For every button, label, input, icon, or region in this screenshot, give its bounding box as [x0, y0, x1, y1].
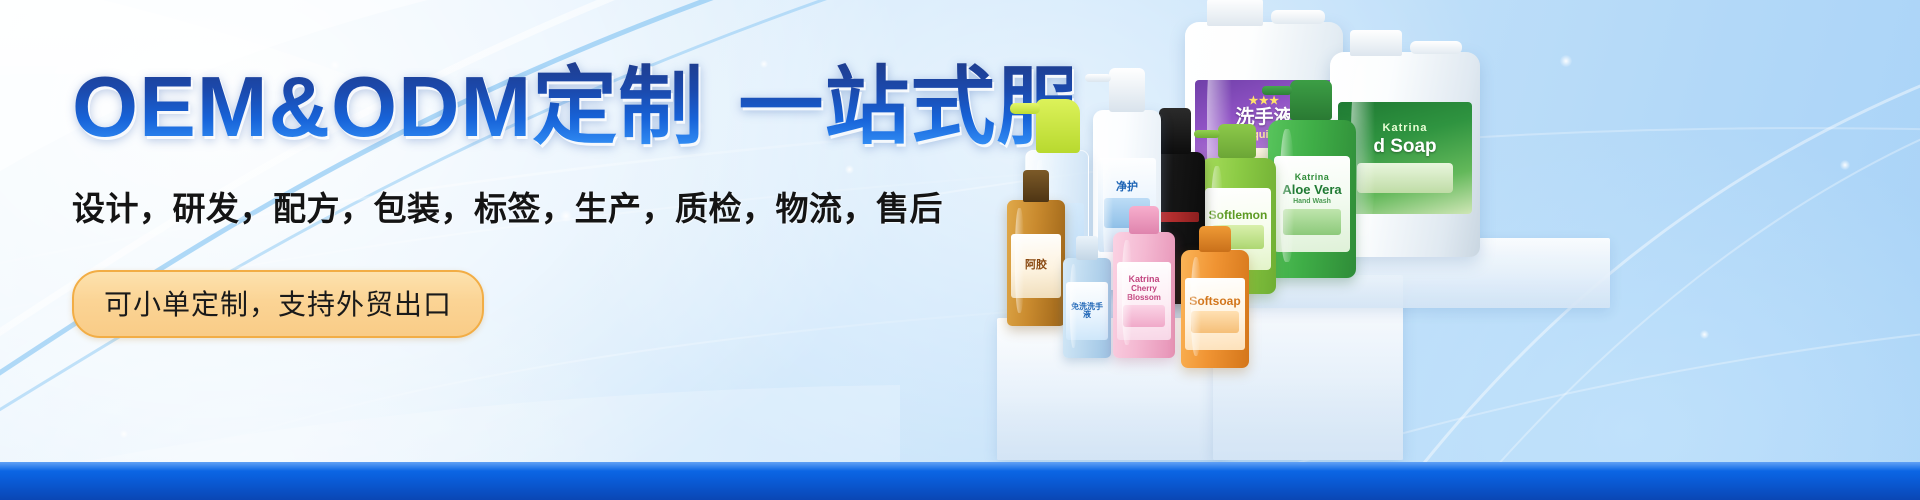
bottle-cap-icon: [1129, 206, 1159, 234]
status-badge: 可小单定制，支持外贸出口: [72, 270, 484, 338]
pump-head-icon: [1218, 124, 1256, 158]
banner-copy: OEM&ODM定制一站式服务 设计，研发，配方，包装，标签，生产，质检，物流，售…: [72, 62, 1072, 338]
sanitizer-blue: 免洗洗手液: [1063, 258, 1111, 358]
pump-head-icon: [1109, 68, 1145, 112]
pink-title: Cherry Blossom: [1120, 285, 1168, 302]
jerrycan-handle-icon: [1271, 10, 1325, 24]
aloe-brand: Katrina: [1295, 173, 1330, 182]
promo-banner: OEM&ODM定制一站式服务 设计，研发，配方，包装，标签，生产，质检，物流，售…: [0, 0, 1920, 500]
aloe-subtitle: Hand Wash: [1293, 198, 1331, 205]
softsoap-title: Softsoap: [1189, 295, 1240, 308]
pink-brand: Katrina: [1128, 275, 1159, 284]
spray-nozzle-icon: [1010, 103, 1040, 114]
bottle-cap-icon: [1076, 236, 1098, 260]
jerrycan-right-brand: Katrina: [1383, 123, 1428, 135]
aloe-title: Aloe Vera: [1282, 183, 1341, 197]
bottom-accent-bar: [0, 462, 1920, 500]
green-aloe-vera-pump: Katrina Aloe Vera Hand Wash: [1268, 120, 1356, 278]
jerrycan-cap-icon: [1350, 30, 1402, 56]
pump-head-icon: [1290, 80, 1332, 120]
sparkle-icon: [120, 430, 128, 438]
pink-lotion-katrina: Katrina Cherry Blossom: [1113, 232, 1175, 358]
softlemon-title: Softlemon: [1209, 209, 1268, 222]
spray-trigger-icon: [1036, 99, 1080, 153]
page-title: OEM&ODM定制一站式服务: [72, 62, 1072, 154]
pink-label: Katrina Cherry Blossom: [1117, 262, 1171, 340]
pump-nozzle-icon: [1085, 74, 1111, 82]
headline-part-1: OEM&ODM定制: [72, 60, 704, 155]
bottle-cap-icon: [1199, 226, 1231, 252]
jerrycan-cap-icon: [1207, 0, 1263, 26]
pump-nozzle-icon: [1194, 130, 1220, 138]
bottle-cap-icon: [1023, 170, 1049, 202]
amber-oil-bottle: 阿胶: [1007, 200, 1065, 326]
pump-head-icon: [1159, 108, 1191, 154]
amber-label: 阿胶: [1011, 234, 1061, 298]
jerrycan-handle-icon: [1410, 41, 1462, 54]
softsoap-label: Softsoap: [1185, 278, 1245, 350]
product-photo-cluster: ★★★ 洗手液 Liquid S Katrina d Soap Katrina …: [985, 0, 1920, 460]
jerrycan-right-title: d Soap: [1373, 137, 1436, 157]
white-pump-title: 净护: [1116, 182, 1138, 194]
orange-softsoap: Softsoap: [1181, 250, 1249, 368]
aloe-label: Katrina Aloe Vera Hand Wash: [1274, 156, 1350, 252]
jerrycan-right-label: Katrina d Soap: [1338, 102, 1472, 214]
pump-nozzle-icon: [1262, 86, 1292, 95]
service-list-subtitle: 设计，研发，配方，包装，标签，生产，质检，物流，售后: [72, 182, 1072, 230]
sanitizer-label: 免洗洗手液: [1066, 282, 1108, 340]
